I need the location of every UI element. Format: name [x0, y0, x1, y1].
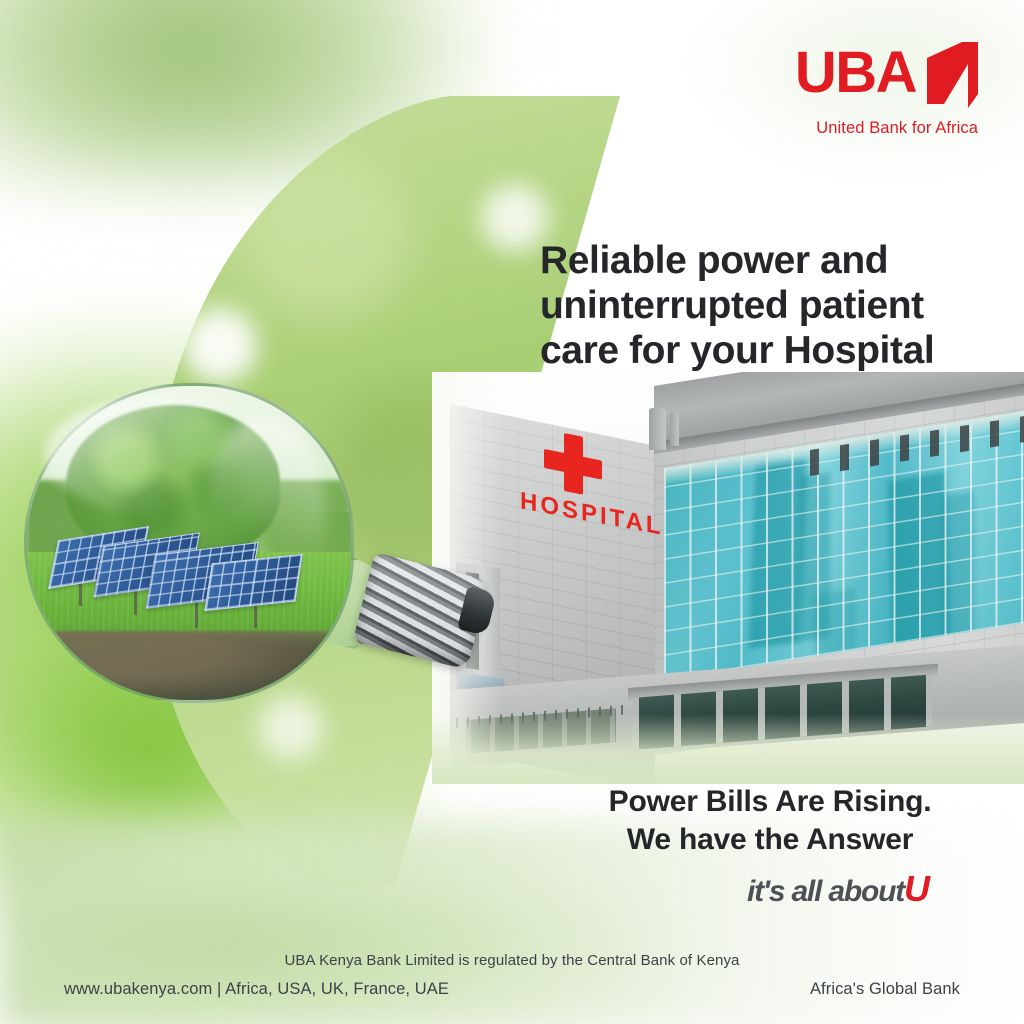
advertisement-poster: HOSPITAL UBA [0, 0, 1024, 1024]
website-and-regions[interactable]: www.ubakenya.com | Africa, USA, UK, Fran… [64, 980, 449, 999]
subhead-line-1: Power Bills Are Rising. [560, 783, 980, 821]
building-bottom-fade [432, 714, 1024, 784]
uba-logo-tagline: United Bank for Africa [795, 119, 978, 138]
tagline-text: it's all about [747, 875, 904, 908]
brand-tagline: it's all aboutU [560, 868, 980, 910]
bulb-glass-envelope [24, 383, 354, 703]
roof-stack [649, 408, 666, 450]
brand-slogan: Africa's Global Bank [810, 980, 960, 999]
headline-line-1: Reliable power and [540, 238, 980, 283]
headline-line-3: care for your Hospital [540, 328, 980, 373]
hospital-building: HOSPITAL [432, 372, 1024, 784]
tagline-accent-u: U [904, 868, 930, 909]
subhead-line-2: We have the Answer [560, 821, 980, 859]
red-cross-icon [544, 429, 602, 499]
eco-light-bulb [10, 375, 490, 750]
headline-line-2: uninterrupted patient [540, 283, 980, 328]
uba-logo: UBA United Bank for Africa [795, 46, 978, 138]
subheadline: Power Bills Are Rising. We have the Answ… [560, 783, 980, 860]
uba-flag-mark-icon [922, 42, 978, 108]
roof-stack [670, 412, 679, 446]
solar-panel [205, 554, 303, 611]
regulator-notice: UBA Kenya Bank Limited is regulated by t… [0, 952, 1024, 969]
uba-wordmark: UBA [795, 46, 916, 99]
page-title: Reliable power and uninterrupted patient… [540, 238, 980, 374]
cross-vertical-bar [564, 433, 583, 495]
bulb-scene-soil [27, 631, 351, 703]
